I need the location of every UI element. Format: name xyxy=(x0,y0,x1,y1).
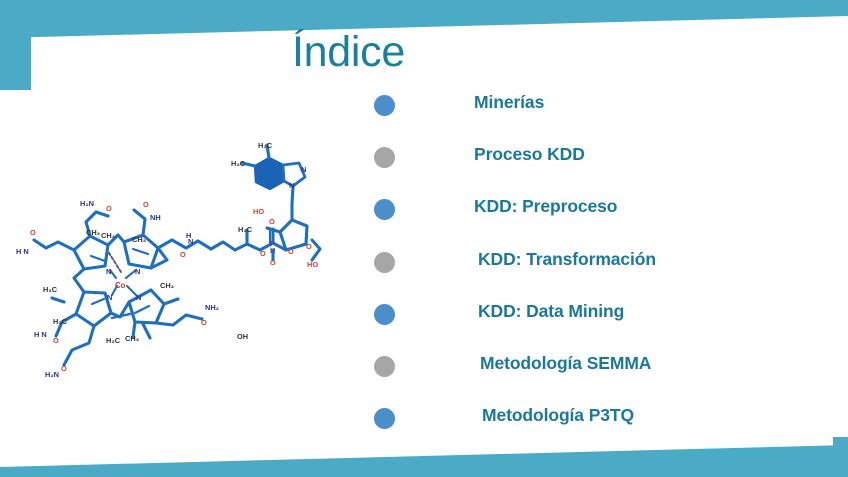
bullet-dot-icon xyxy=(374,199,395,220)
bullet-dot-icon xyxy=(374,304,395,325)
bullet-dot-icon xyxy=(374,95,395,116)
list-item-label: Proceso KDD xyxy=(474,144,585,165)
svg-text:H₃C: H₃C xyxy=(238,225,253,234)
svg-text:O: O xyxy=(306,242,312,251)
top-accent-band xyxy=(0,0,848,92)
svg-text:O: O xyxy=(288,247,294,256)
svg-text:N: N xyxy=(136,293,141,302)
svg-text:O: O xyxy=(143,200,149,209)
svg-text:CH₃: CH₃ xyxy=(86,228,100,237)
bullet-dot-icon xyxy=(374,147,395,168)
list-item[interactable]: Metodología SEMMA xyxy=(374,349,804,401)
svg-text:N: N xyxy=(289,181,294,190)
svg-text:O: O xyxy=(180,250,186,259)
svg-text:Co: Co xyxy=(115,281,126,290)
svg-text:HO: HO xyxy=(307,260,318,269)
bullet-dot-icon xyxy=(374,356,395,377)
svg-text:H: H xyxy=(270,246,275,255)
svg-text:N: N xyxy=(106,267,111,276)
list-item[interactable]: KDD: Transformación xyxy=(374,245,804,297)
svg-text:O: O xyxy=(269,217,275,226)
svg-text:OH: OH xyxy=(237,332,248,341)
svg-text:H₃C: H₃C xyxy=(43,285,58,294)
slide-canvas: Índice xyxy=(0,0,848,477)
svg-text:O: O xyxy=(260,249,266,258)
svg-text:NH₂: NH₂ xyxy=(205,303,219,312)
svg-text:HO: HO xyxy=(253,207,264,216)
svg-text:H₃C: H₃C xyxy=(258,141,273,150)
list-item-label: Metodología SEMMA xyxy=(480,353,651,374)
svg-text:O: O xyxy=(61,364,67,373)
svg-text:CH₃: CH₃ xyxy=(160,281,174,290)
svg-text:O: O xyxy=(201,318,207,327)
svg-text:H₃C: H₃C xyxy=(106,336,121,345)
svg-text:H₂N: H₂N xyxy=(45,370,59,379)
svg-text:O: O xyxy=(53,336,59,345)
list-item[interactable]: KDD: Preproceso xyxy=(374,192,804,244)
index-list: Minerías Proceso KDD KDD: Preproceso KDD… xyxy=(374,88,804,453)
svg-text:H₂N: H₂N xyxy=(80,199,94,208)
svg-text:H₃C: H₃C xyxy=(231,159,246,168)
page-title: Índice xyxy=(292,29,405,75)
list-item[interactable]: KDD: Data Mining xyxy=(374,297,804,349)
list-item-label: KDD: Data Mining xyxy=(478,301,624,322)
list-item-label: KDD: Preproceso xyxy=(474,196,617,217)
svg-text:O: O xyxy=(30,228,36,237)
svg-text:N: N xyxy=(107,293,112,302)
svg-text:CH₃: CH₃ xyxy=(132,235,146,244)
svg-text:O: O xyxy=(106,204,112,213)
svg-text:H₃C: H₃C xyxy=(53,317,68,326)
list-item[interactable]: Metodología P3TQ xyxy=(374,401,804,453)
svg-text:CH₃: CH₃ xyxy=(125,334,139,343)
list-item-label: Metodología P3TQ xyxy=(482,405,634,426)
svg-text:N: N xyxy=(135,267,140,276)
list-item[interactable]: Proceso KDD xyxy=(374,140,804,192)
svg-text:O: O xyxy=(270,258,276,267)
svg-text:NH: NH xyxy=(150,213,161,222)
bullet-dot-icon xyxy=(374,408,395,429)
svg-text:CH₃: CH₃ xyxy=(101,231,115,240)
list-item-label: KDD: Transformación xyxy=(478,249,656,270)
vitamin-b12-molecule-illustration: N N N N Co O O O O O O O O O O O O xyxy=(12,132,324,400)
bullet-dot-icon xyxy=(374,252,395,273)
svg-text:H N: H N xyxy=(16,247,29,256)
list-item-label: Minerías xyxy=(474,92,544,113)
svg-text:N: N xyxy=(301,165,306,174)
svg-text:H: H xyxy=(186,231,191,240)
list-item[interactable]: Minerías xyxy=(374,88,804,140)
svg-text:H N: H N xyxy=(34,330,47,339)
